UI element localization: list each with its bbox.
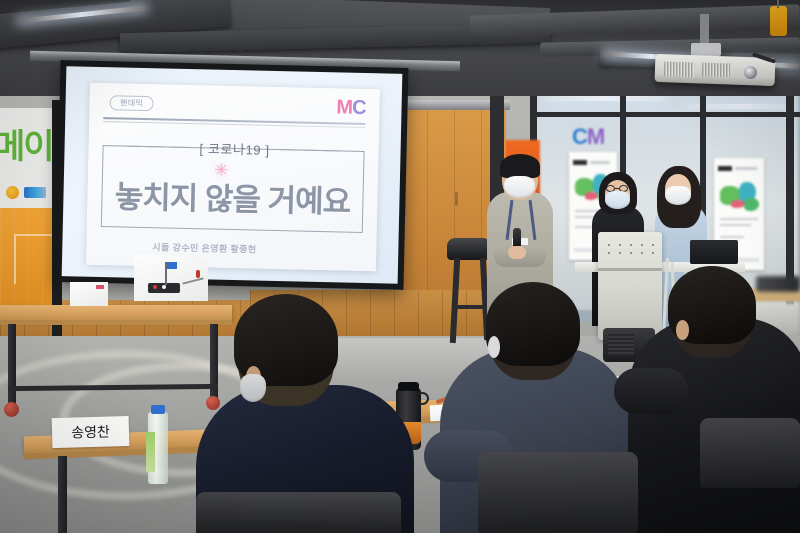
podium-shelf-line <box>598 268 662 271</box>
maker-flag-blue <box>166 262 177 269</box>
microphone[interactable] <box>513 228 521 248</box>
podium-vent-row-2 <box>608 252 654 254</box>
poster-header-rule <box>718 166 732 171</box>
banner-house-outline <box>14 234 52 284</box>
door-handle[interactable] <box>455 192 458 206</box>
chair-back-right[interactable] <box>700 418 800 488</box>
slide-topic-badge-label: 팬데믹 <box>120 97 143 109</box>
audience-center-mask-strap <box>488 336 500 358</box>
interior-strip-light-1 <box>545 96 665 101</box>
presenter-female-blue-mask <box>665 186 691 205</box>
poster-text-2 <box>720 224 751 226</box>
hanging-yellow-fixture <box>770 6 787 36</box>
sponsor-mark-1 <box>6 186 19 199</box>
audience-front-left-mask <box>240 374 266 402</box>
nameplate-label: 송영찬 <box>71 421 110 442</box>
presenter-male-mic-mask <box>504 176 535 198</box>
poster-title-rule <box>735 167 757 170</box>
pa-speaker-grille <box>608 332 634 356</box>
cm-logo: CM <box>572 126 604 148</box>
demo-table-leg-left <box>8 324 16 404</box>
slide-mc-logo: MC <box>336 97 366 118</box>
sponsor-mark-2 <box>24 187 46 198</box>
mc-logo-m: M <box>336 96 352 118</box>
slide-topic-badge: 팬데믹 <box>109 95 153 111</box>
banner-headline: 메이 <box>0 130 52 164</box>
nameplate-song-yeongchan: 송영찬 <box>52 416 130 448</box>
demo-table-top <box>0 305 232 321</box>
left-standing-banner: 메이 <box>0 108 52 308</box>
chair-back-left[interactable] <box>196 492 401 533</box>
projector-vent-right <box>702 63 730 78</box>
poster-blob-green2 <box>744 198 759 211</box>
audience-right-arm <box>614 368 688 414</box>
maker-box-left-label <box>96 285 104 289</box>
mc-logo-c: C <box>352 97 366 119</box>
audience-table-left-leg <box>58 456 67 533</box>
cm-logo-c: C <box>572 124 587 149</box>
slide-headline: 놓치지 않을 거예요 <box>87 171 378 223</box>
slide-section-tag: [ 코로나19 ] <box>190 138 278 159</box>
bar-stool-seat[interactable] <box>447 238 491 260</box>
slide-credits: 시들 강수민 은영환 황중현 <box>152 240 256 255</box>
poster-text-3 <box>720 236 744 238</box>
glasses-bridge <box>615 188 619 189</box>
projector-mount-plate <box>691 43 721 56</box>
hanging-fixture-cord <box>777 0 779 8</box>
poster-blob-pink <box>731 200 745 208</box>
poster-title-rule <box>590 161 610 164</box>
podium-vent-row-1 <box>608 244 654 246</box>
audience-center-hair <box>486 282 580 366</box>
presenter-male-mic-hand <box>508 246 526 259</box>
presenter-male-mic-hair <box>500 154 540 178</box>
presenter-female-glasses-mask <box>605 191 630 209</box>
projector-lens <box>744 66 757 79</box>
maker-sensor-red <box>196 270 200 278</box>
maker-led-white <box>162 285 166 289</box>
cm-logo-m: M <box>587 124 604 149</box>
presentation-slide: 팬데믹 MC [ 코로나19 ] ✳ 놓치지 않을 거예요 시들 강수민 은영환… <box>86 83 380 272</box>
audience-right-ear <box>676 320 689 340</box>
classroom-presentation-scene: CM 메이 <box>0 0 800 533</box>
av-podium[interactable] <box>598 232 662 340</box>
black-thermos-handle[interactable] <box>416 392 429 405</box>
projection-screen-surface: 팬데믹 MC [ 코로나19 ] ✳ 놓치지 않을 거예요 시들 강수민 은영환… <box>62 66 403 284</box>
laptop[interactable] <box>690 240 738 264</box>
maker-pole <box>165 262 167 285</box>
demo-table-edge <box>0 320 232 325</box>
glass-transom <box>530 112 800 117</box>
maker-led-red <box>153 285 157 289</box>
water-bottle-cap[interactable] <box>151 405 165 414</box>
bar-stool-footrest <box>452 305 488 309</box>
chair-back-center[interactable] <box>478 452 638 533</box>
background-equipment-clutter <box>756 276 800 292</box>
black-thermos-cap[interactable] <box>398 382 419 391</box>
demo-table-caster-left <box>4 402 19 417</box>
projector-vent-left <box>664 61 695 77</box>
poster-header-rule <box>573 160 587 165</box>
poster-text-1 <box>720 218 758 220</box>
poster-blob-pink <box>585 192 598 200</box>
demo-table-caster-right <box>206 396 220 410</box>
water-bottle-label <box>146 432 155 472</box>
